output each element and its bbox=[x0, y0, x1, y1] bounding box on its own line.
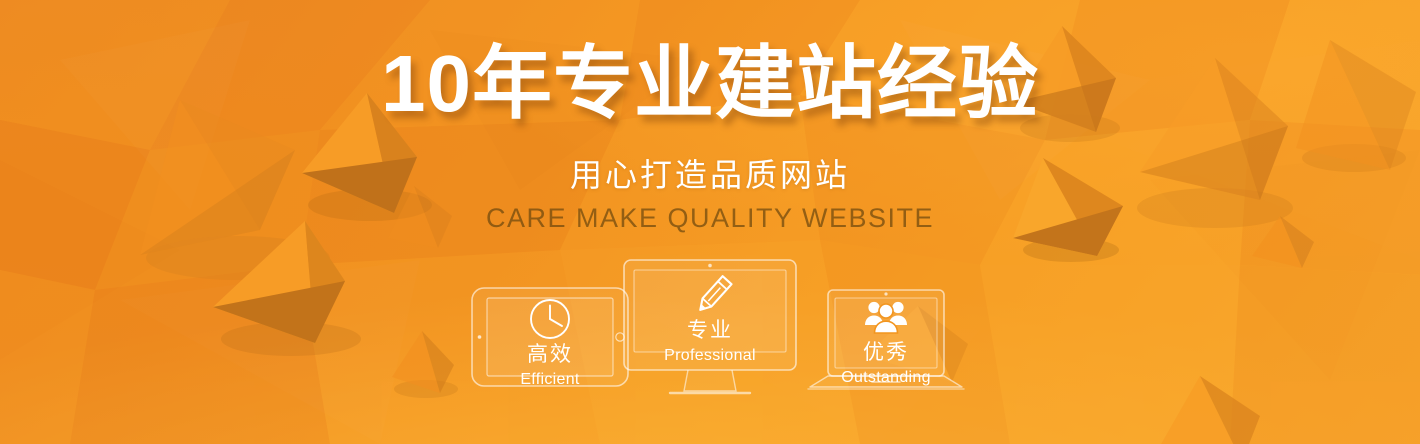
pyramid-decoration bbox=[1150, 370, 1270, 444]
feature-card-outstanding[interactable]: 优秀 Outstanding bbox=[806, 288, 966, 394]
pyramid-decoration bbox=[378, 325, 468, 405]
promo-banner: 10年专业建站经验 用心打造品质网站 CARE MAKE QUALITY WEB… bbox=[0, 0, 1420, 444]
headline-text: 10年专业建站经验 bbox=[381, 39, 1039, 128]
subtitle-chinese: 用心打造品质网站 bbox=[0, 155, 1420, 195]
page-title: 10年专业建站经验 bbox=[0, 44, 1420, 124]
clock-icon bbox=[522, 296, 578, 342]
subtitle-english: CARE MAKE QUALITY WEBSITE bbox=[0, 202, 1420, 236]
pyramid-decoration bbox=[195, 215, 375, 360]
pencil-icon bbox=[682, 272, 740, 324]
feature-card-efficient[interactable]: 高效 Efficient bbox=[470, 286, 630, 388]
people-group-icon bbox=[863, 298, 909, 336]
feature-card-professional[interactable]: 专业 Professional bbox=[622, 258, 798, 398]
